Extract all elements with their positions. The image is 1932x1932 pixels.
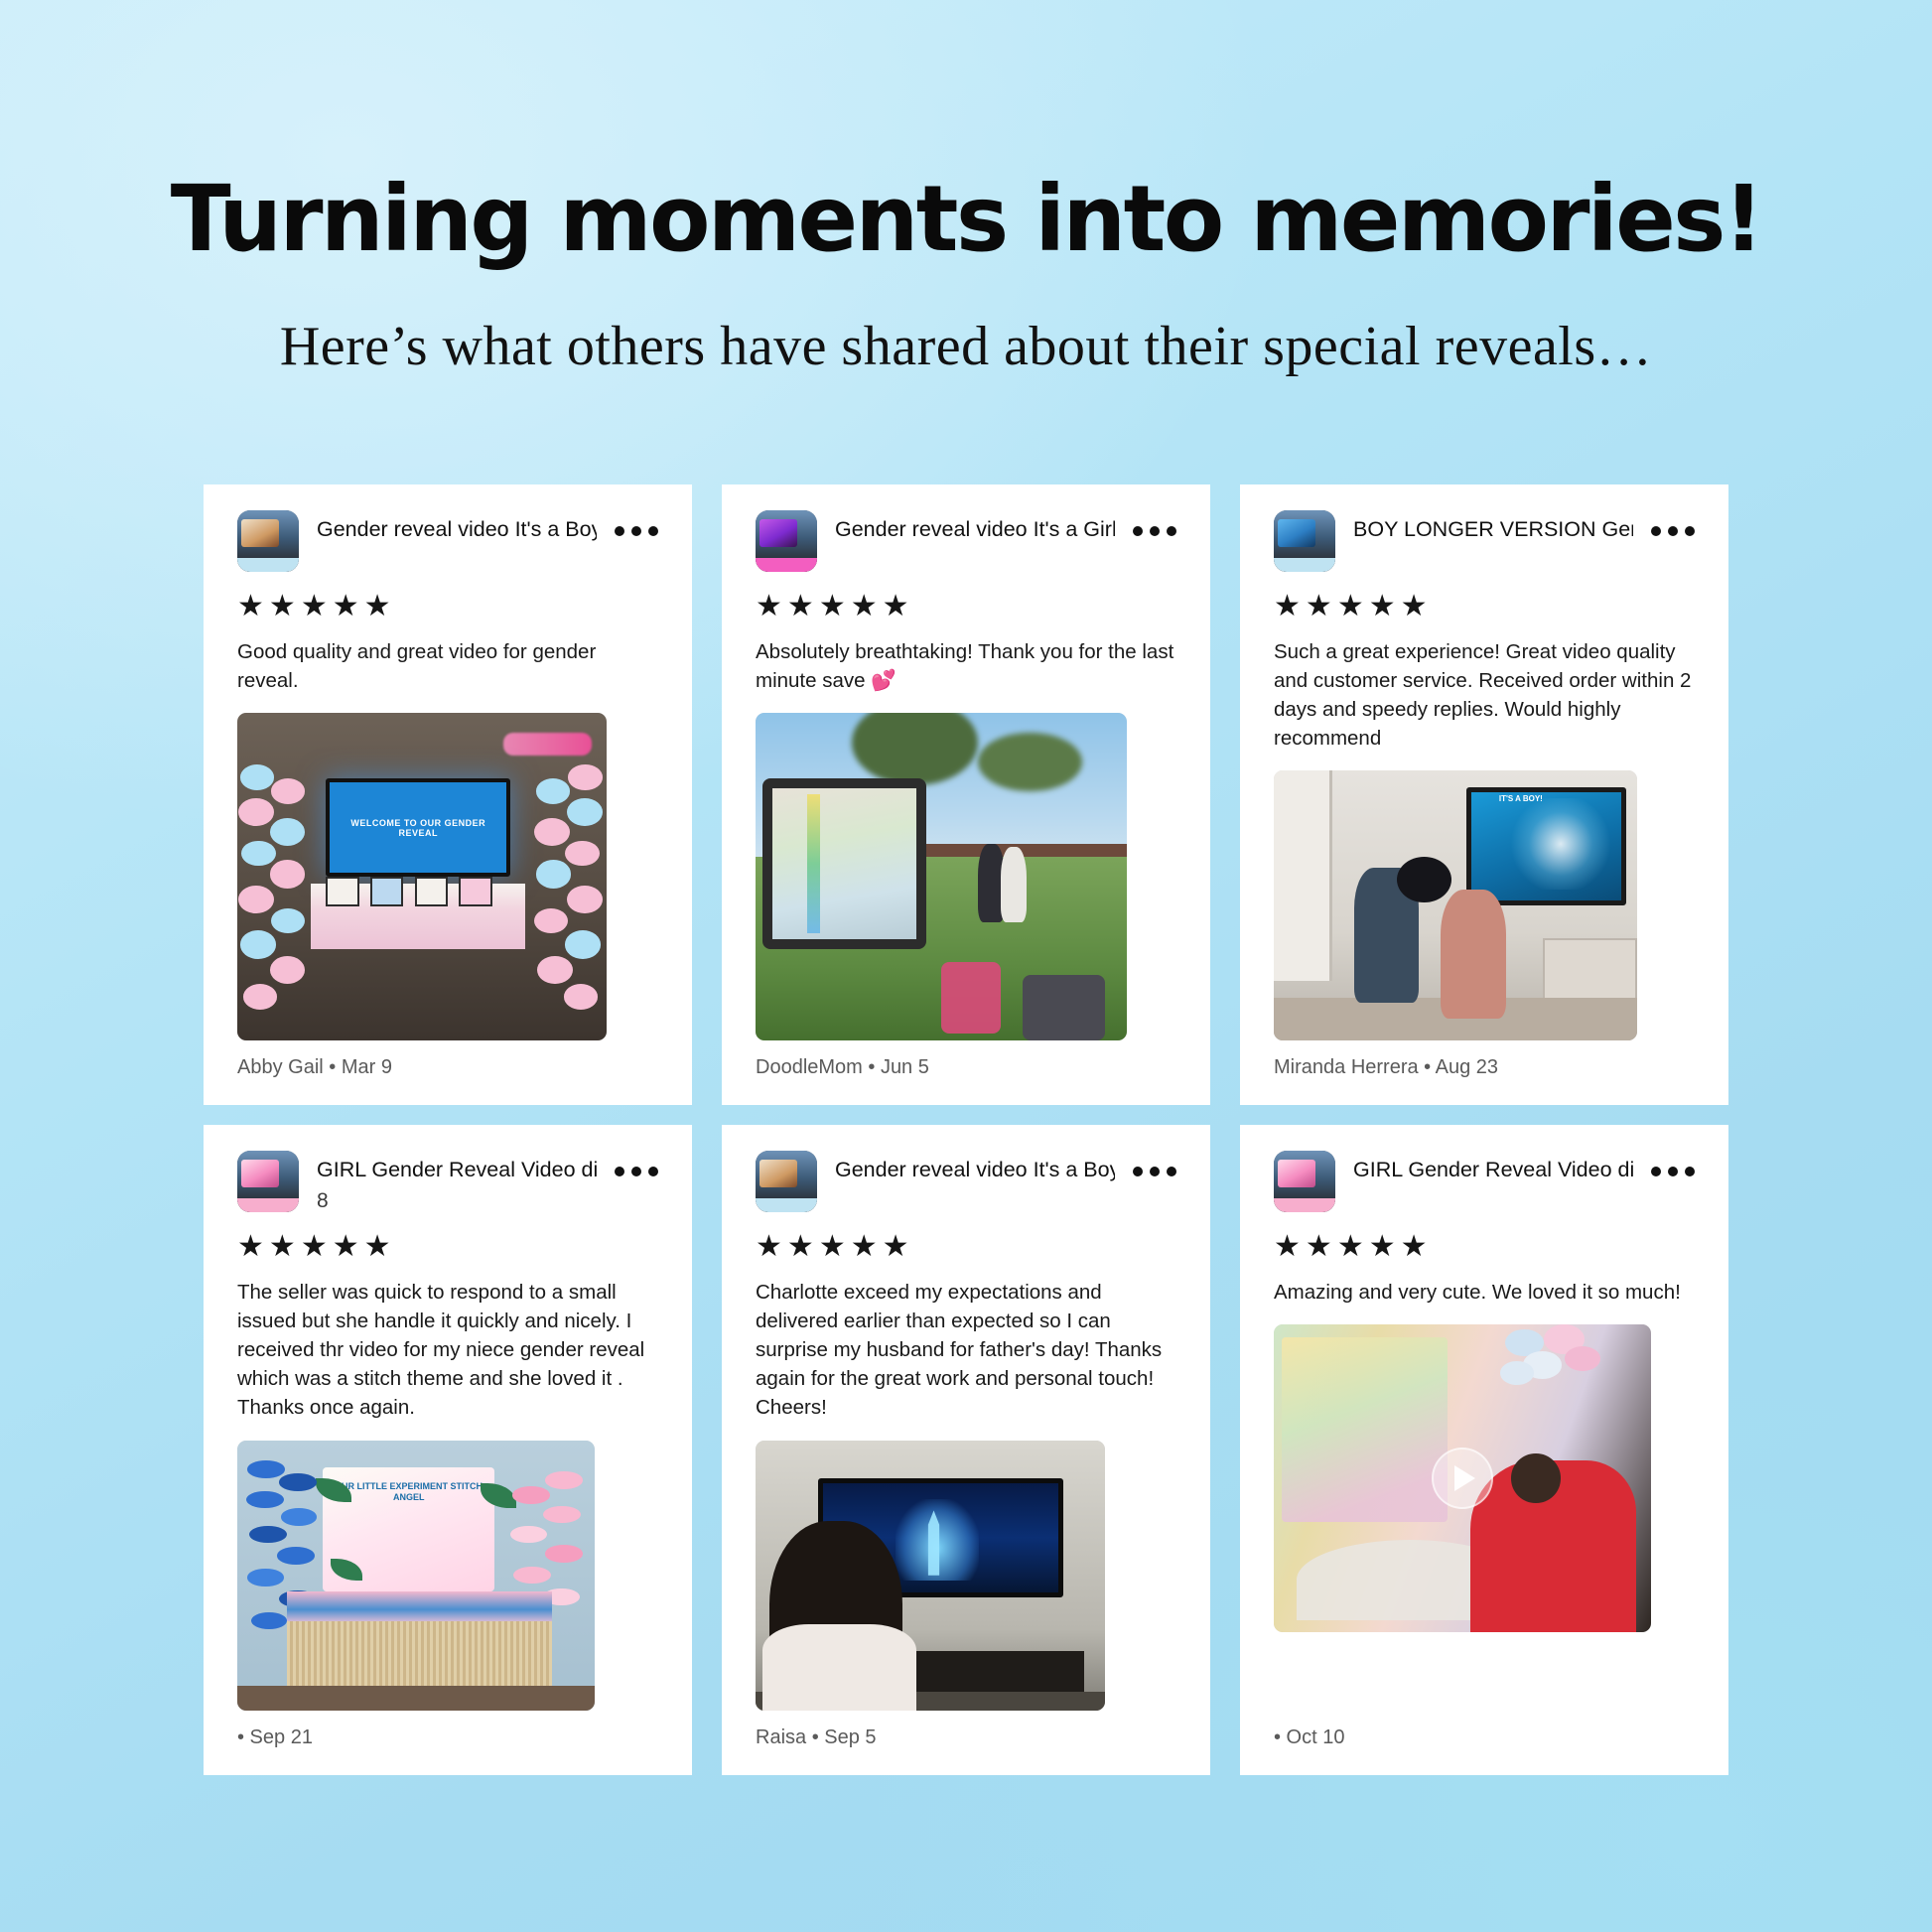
review-photo[interactable] bbox=[756, 1441, 1105, 1711]
review-card[interactable]: Gender reveal video It's a Girl! Vide...… bbox=[722, 484, 1210, 1105]
product-title[interactable]: Gender reveal video It's a Boy! Vide... bbox=[835, 1157, 1115, 1183]
star-rating: ★★★★★ bbox=[1274, 592, 1695, 621]
product-thumbnail-icon[interactable] bbox=[756, 510, 817, 572]
review-photo[interactable]: WELCOME TO OUR GENDER REVEAL bbox=[237, 713, 607, 1040]
product-info: Gender reveal video It's a Boy! Vide... bbox=[317, 510, 597, 543]
review-text: Good quality and great video for gender … bbox=[237, 637, 658, 695]
star-rating: ★★★★★ bbox=[756, 592, 1176, 621]
review-text-body: Absolutely breathtaking! Thank you for t… bbox=[756, 640, 1173, 692]
product-info: BOY LONGER VERSION Gender ... bbox=[1353, 510, 1633, 543]
review-text: Such a great experience! Great video qua… bbox=[1274, 637, 1695, 753]
review-text: The seller was quick to respond to a sma… bbox=[237, 1278, 658, 1423]
star-rating: ★★★★★ bbox=[1274, 1232, 1695, 1262]
more-options-icon[interactable] bbox=[1133, 1151, 1176, 1176]
product-title[interactable]: Gender reveal video It's a Girl! Vide... bbox=[835, 516, 1115, 543]
more-options-icon[interactable] bbox=[1651, 1151, 1695, 1176]
product-info: Gender reveal video It's a Boy! Vide... bbox=[835, 1151, 1115, 1183]
review-card[interactable]: GIRL Gender Reveal Video digital ... ★★★… bbox=[1240, 1125, 1728, 1775]
photo-caption: WELCOME TO OUR GENDER REVEAL bbox=[330, 782, 506, 873]
play-button-icon[interactable] bbox=[1432, 1448, 1493, 1509]
product-title[interactable]: GIRL Gender Reveal Video digital ... bbox=[1353, 1157, 1633, 1183]
product-title[interactable]: GIRL Gender Reveal Video digital ... bbox=[317, 1157, 597, 1183]
page-title: Turning moments into memories! bbox=[29, 174, 1903, 265]
review-text: Amazing and very cute. We loved it so mu… bbox=[1274, 1278, 1695, 1307]
review-card-header: GIRL Gender Reveal Video digital ... 8 bbox=[237, 1151, 658, 1216]
product-thumbnail-icon[interactable] bbox=[756, 1151, 817, 1212]
review-byline: Raisa • Sep 5 bbox=[756, 1711, 1176, 1749]
product-thumbnail-icon[interactable] bbox=[237, 510, 299, 572]
star-rating: ★★★★★ bbox=[237, 592, 658, 621]
page-subtitle: Here’s what others have shared about the… bbox=[0, 317, 1932, 378]
product-thumbnail-icon[interactable] bbox=[1274, 510, 1335, 572]
product-thumbnail-icon[interactable] bbox=[237, 1151, 299, 1212]
review-photo[interactable] bbox=[756, 713, 1127, 1040]
review-byline: Miranda Herrera • Aug 23 bbox=[1274, 1040, 1695, 1079]
heart-emoji-icon: 💕 bbox=[871, 669, 897, 692]
page-header: Turning moments into memories! Here’s wh… bbox=[0, 0, 1932, 378]
more-options-icon[interactable] bbox=[615, 510, 658, 536]
review-card-header: BOY LONGER VERSION Gender ... bbox=[1274, 510, 1695, 576]
review-card-header: Gender reveal video It's a Girl! Vide... bbox=[756, 510, 1176, 576]
review-byline: • Oct 10 bbox=[1274, 1711, 1695, 1749]
review-card[interactable]: GIRL Gender Reveal Video digital ... 8 ★… bbox=[204, 1125, 692, 1775]
star-rating: ★★★★★ bbox=[756, 1232, 1176, 1262]
product-subtitle: 8 bbox=[317, 1186, 597, 1215]
review-text: Absolutely breathtaking! Thank you for t… bbox=[756, 637, 1176, 695]
testimonial-page: Turning moments into memories! Here’s wh… bbox=[0, 0, 1932, 1932]
more-options-icon[interactable] bbox=[1133, 510, 1176, 536]
more-options-icon[interactable] bbox=[615, 1151, 658, 1176]
review-card[interactable]: Gender reveal video It's a Boy! Vide... … bbox=[204, 484, 692, 1105]
review-byline: Abby Gail • Mar 9 bbox=[237, 1040, 658, 1079]
review-card-header: Gender reveal video It's a Boy! Vide... bbox=[756, 1151, 1176, 1216]
review-byline: • Sep 21 bbox=[237, 1711, 658, 1749]
reviews-grid: Gender reveal video It's a Boy! Vide... … bbox=[204, 484, 1732, 1775]
review-card-header: Gender reveal video It's a Boy! Vide... bbox=[237, 510, 658, 576]
product-info: GIRL Gender Reveal Video digital ... 8 bbox=[317, 1151, 597, 1215]
product-info: GIRL Gender Reveal Video digital ... bbox=[1353, 1151, 1633, 1183]
review-photo[interactable]: IS OUR LITTLE EXPERIMENT STITCH or ANGEL bbox=[237, 1441, 595, 1711]
star-rating: ★★★★★ bbox=[237, 1232, 658, 1262]
product-thumbnail-icon[interactable] bbox=[1274, 1151, 1335, 1212]
review-byline: DoodleMom • Jun 5 bbox=[756, 1040, 1176, 1079]
product-info: Gender reveal video It's a Girl! Vide... bbox=[835, 510, 1115, 543]
more-options-icon[interactable] bbox=[1651, 510, 1695, 536]
product-title[interactable]: Gender reveal video It's a Boy! Vide... bbox=[317, 516, 597, 543]
review-text: Charlotte exceed my expectations and del… bbox=[756, 1278, 1176, 1423]
review-card-header: GIRL Gender Reveal Video digital ... bbox=[1274, 1151, 1695, 1216]
product-title[interactable]: BOY LONGER VERSION Gender ... bbox=[1353, 516, 1633, 543]
photo-caption: IT'S A BOY! bbox=[1499, 795, 1543, 804]
review-card[interactable]: Gender reveal video It's a Boy! Vide... … bbox=[722, 1125, 1210, 1775]
review-video-thumbnail[interactable] bbox=[1274, 1324, 1651, 1632]
review-card[interactable]: BOY LONGER VERSION Gender ... ★★★★★ Such… bbox=[1240, 484, 1728, 1105]
review-photo[interactable]: IT'S A BOY! bbox=[1274, 770, 1637, 1040]
